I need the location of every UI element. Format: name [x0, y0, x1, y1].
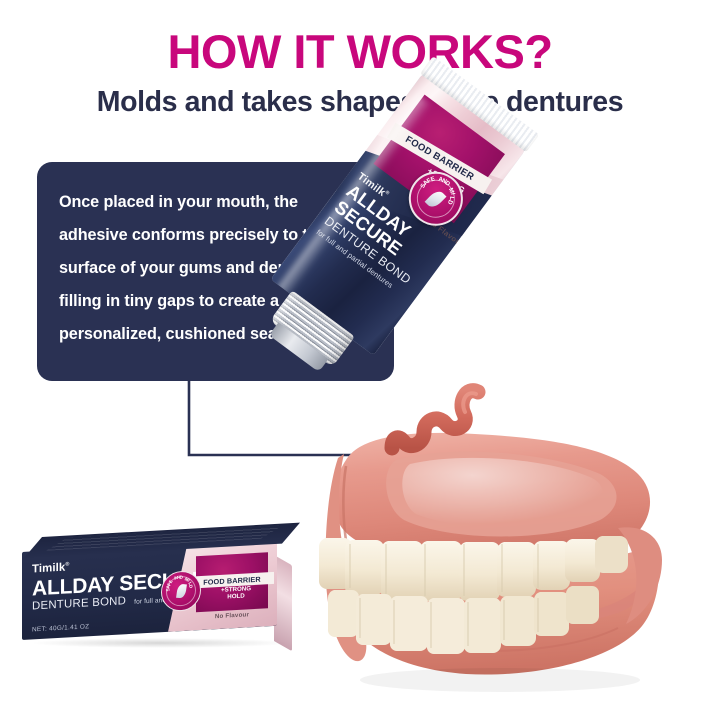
- infographic-canvas: HOW IT WORKS? Molds and takes shapes of …: [0, 0, 720, 720]
- page-title: HOW IT WORKS?: [0, 28, 720, 75]
- product-carton: Timilk® ALLDAY SECURE DENTURE BOND for f…: [22, 538, 304, 646]
- adhesive-bead: [380, 380, 510, 480]
- carton-shadow: [30, 638, 290, 648]
- carton-tooth-graphic: FOOD BARRIER +STRONG HOLD: [196, 552, 268, 612]
- carton-strong-hold: +STRONG HOLD: [214, 585, 258, 602]
